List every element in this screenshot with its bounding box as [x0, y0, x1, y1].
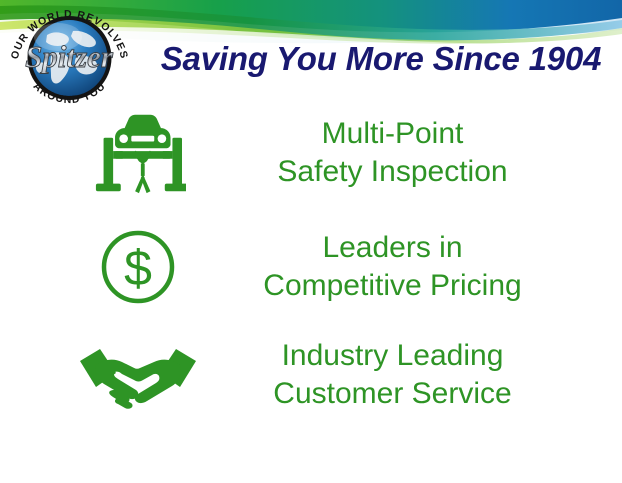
feature-item-competitive-pricing: $ Leaders in Competitive Pricing	[60, 218, 570, 316]
feature-line-1: Multi-Point	[215, 115, 570, 153]
logo-wordmark: Spitzer	[25, 39, 114, 74]
promo-slide: OUR WORLD REVOLVES AROUND YOU Spitzer Sa…	[0, 0, 622, 483]
feature-line-2: Competitive Pricing	[215, 267, 570, 305]
feature-text-customer-service: Industry Leading Customer Service	[215, 337, 570, 413]
feature-line-2: Customer Service	[215, 375, 570, 413]
page-title: Saving You More Since 1904	[148, 38, 614, 80]
feature-line-1: Industry Leading	[215, 337, 570, 375]
feature-item-customer-service: Industry Leading Customer Service	[60, 326, 570, 424]
dollar-circle-icon: $	[60, 220, 215, 315]
feature-line-2: Safety Inspection	[215, 153, 570, 191]
spitzer-logo: OUR WORLD REVOLVES AROUND YOU Spitzer	[3, 1, 136, 114]
feature-line-1: Leaders in	[215, 229, 570, 267]
car-lift-icon	[60, 106, 215, 201]
feature-text-safety-inspection: Multi-Point Safety Inspection	[215, 115, 570, 191]
handshake-icon	[60, 328, 215, 423]
feature-item-safety-inspection: Multi-Point Safety Inspection	[60, 104, 570, 202]
feature-text-competitive-pricing: Leaders in Competitive Pricing	[215, 229, 570, 305]
svg-text:$: $	[124, 240, 152, 296]
